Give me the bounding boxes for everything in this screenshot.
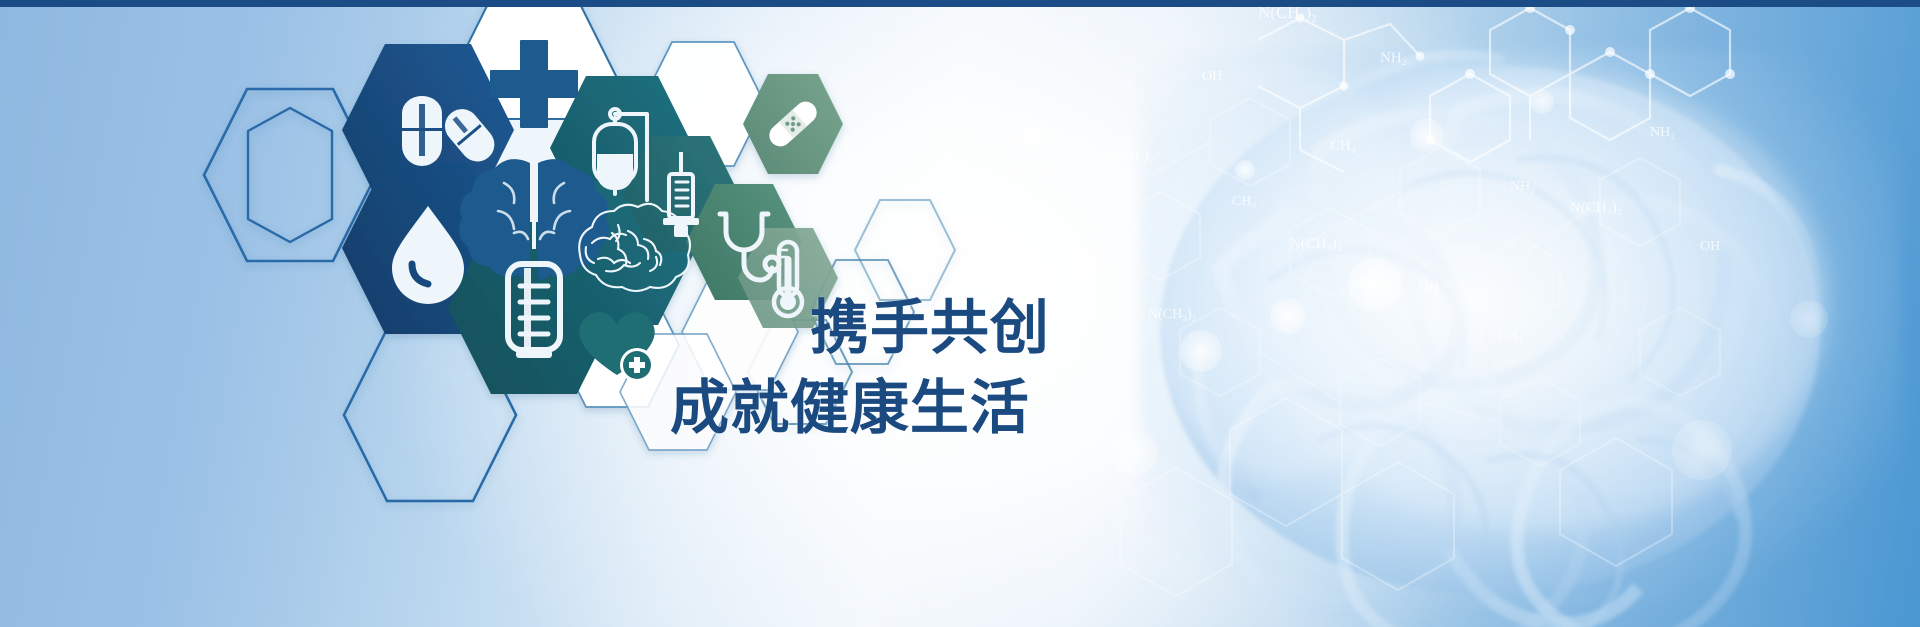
headline-block: 携手共创 成就健康生活: [660, 295, 1050, 441]
top-accent-bar: [0, 0, 1920, 7]
headline-line-1: 携手共创: [810, 295, 1050, 361]
headline-line-2: 成就健康生活: [670, 375, 1050, 441]
brain-illustration: [1020, 0, 1920, 627]
brain-glow: [1140, 50, 1900, 610]
healthcare-hero-banner: N(CH₃)₂NH₂CH₃OHN(CH₃)₂NH₂N(CH₃)₂CH₃N(CH₃…: [0, 0, 1920, 627]
hex-outline-far-left: [248, 108, 332, 242]
